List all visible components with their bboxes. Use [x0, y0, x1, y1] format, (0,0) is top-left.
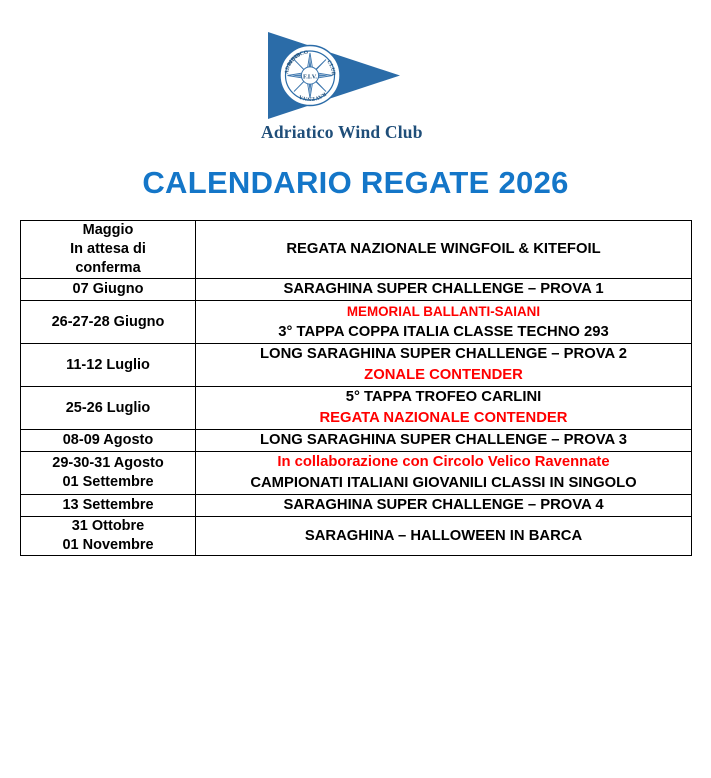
event-date-line: conferma: [21, 259, 195, 278]
event-date-line: 01 Settembre: [21, 473, 195, 492]
event-name-cell: 5° TAPPA TROFEO CARLINIREGATA NAZIONALE …: [196, 387, 692, 430]
event-name-line: In collaborazione con Circolo Velico Rav…: [196, 452, 691, 473]
event-name-line: LONG SARAGHINA SUPER CHALLENGE – PROVA 3: [196, 430, 691, 451]
event-date-line: 25-26 Luglio: [21, 399, 195, 418]
table-row: 29-30-31 Agosto01 SettembreIn collaboraz…: [21, 452, 692, 495]
event-name-cell: SARAGHINA SUPER CHALLENGE – PROVA 4: [196, 495, 692, 517]
event-date-cell: 31 Ottobre01 Novembre: [21, 517, 196, 556]
event-name-line: REGATA NAZIONALE WINGFOIL & KITEFOIL: [196, 239, 691, 260]
table-row: 08-09 AgostoLONG SARAGHINA SUPER CHALLEN…: [21, 430, 692, 452]
table-row: MaggioIn attesa diconfermaREGATA NAZIONA…: [21, 221, 692, 279]
event-name-line: SARAGHINA SUPER CHALLENGE – PROVA 4: [196, 495, 691, 516]
event-date-cell: 26-27-28 Giugno: [21, 301, 196, 344]
table-row: 25-26 Luglio5° TAPPA TROFEO CARLINIREGAT…: [21, 387, 692, 430]
logo-header: F.I.V. WIND ADRIATICO CLUB RAVENNA Adria…: [0, 0, 711, 150]
event-name-line: SARAGHINA – HALLOWEEN IN BARCA: [196, 526, 691, 547]
event-name-line: ZONALE CONTENDER: [196, 365, 691, 386]
event-date-line: 29-30-31 Agosto: [21, 454, 195, 473]
event-name-line: MEMORIAL BALLANTI-SAIANI: [196, 301, 691, 322]
event-name-line: 5° TAPPA TROFEO CARLINI: [196, 387, 691, 408]
table-row: 13 SettembreSARAGHINA SUPER CHALLENGE – …: [21, 495, 692, 517]
burgee-flag-icon: F.I.V. WIND ADRIATICO CLUB RAVENNA: [258, 28, 458, 123]
event-date-line: 07 Giugno: [21, 280, 195, 299]
event-name-cell: In collaborazione con Circolo Velico Rav…: [196, 452, 692, 495]
event-date-line: 01 Novembre: [21, 536, 195, 555]
compass-center-label: F.I.V.: [303, 73, 317, 80]
event-name-cell: REGATA NAZIONALE WINGFOIL & KITEFOIL: [196, 221, 692, 279]
event-date-cell: 29-30-31 Agosto01 Settembre: [21, 452, 196, 495]
event-date-line: 26-27-28 Giugno: [21, 313, 195, 332]
event-date-line: Maggio: [21, 221, 195, 240]
event-name-cell: MEMORIAL BALLANTI-SAIANI3° TAPPA COPPA I…: [196, 301, 692, 344]
event-date-cell: 07 Giugno: [21, 279, 196, 301]
club-logo: F.I.V. WIND ADRIATICO CLUB RAVENNA Adria…: [258, 28, 458, 146]
event-name-cell: SARAGHINA – HALLOWEEN IN BARCA: [196, 517, 692, 556]
event-date-cell: MaggioIn attesa diconferma: [21, 221, 196, 279]
event-name-line: SARAGHINA SUPER CHALLENGE – PROVA 1: [196, 279, 691, 300]
event-date-line: 31 Ottobre: [21, 517, 195, 536]
event-date-cell: 13 Settembre: [21, 495, 196, 517]
event-date-line: In attesa di: [21, 240, 195, 259]
event-name-line: CAMPIONATI ITALIANI GIOVANILI CLASSI IN …: [196, 473, 691, 494]
table-row: 26-27-28 GiugnoMEMORIAL BALLANTI-SAIANI3…: [21, 301, 692, 344]
calendar-table-body: MaggioIn attesa diconfermaREGATA NAZIONA…: [21, 221, 692, 556]
event-name-line: 3° TAPPA COPPA ITALIA CLASSE TECHNO 293: [196, 322, 691, 343]
table-row: 07 GiugnoSARAGHINA SUPER CHALLENGE – PRO…: [21, 279, 692, 301]
event-name-cell: LONG SARAGHINA SUPER CHALLENGE – PROVA 2…: [196, 344, 692, 387]
page-title: CALENDARIO REGATE 2026: [0, 150, 711, 216]
event-date-line: 08-09 Agosto: [21, 431, 195, 450]
event-date-line: 13 Settembre: [21, 496, 195, 515]
event-date-line: 11-12 Luglio: [21, 356, 195, 375]
event-name-line: REGATA NAZIONALE CONTENDER: [196, 408, 691, 429]
event-date-cell: 08-09 Agosto: [21, 430, 196, 452]
calendar-table-container: MaggioIn attesa diconfermaREGATA NAZIONA…: [20, 220, 689, 556]
club-name-label: Adriatico Wind Club: [261, 122, 461, 143]
table-row: 11-12 LuglioLONG SARAGHINA SUPER CHALLEN…: [21, 344, 692, 387]
event-name-cell: SARAGHINA SUPER CHALLENGE – PROVA 1: [196, 279, 692, 301]
event-name-cell: LONG SARAGHINA SUPER CHALLENGE – PROVA 3: [196, 430, 692, 452]
calendar-table: MaggioIn attesa diconfermaREGATA NAZIONA…: [20, 220, 692, 556]
event-date-cell: 25-26 Luglio: [21, 387, 196, 430]
table-row: 31 Ottobre01 NovembreSARAGHINA – HALLOWE…: [21, 517, 692, 556]
event-date-cell: 11-12 Luglio: [21, 344, 196, 387]
event-name-line: LONG SARAGHINA SUPER CHALLENGE – PROVA 2: [196, 344, 691, 365]
